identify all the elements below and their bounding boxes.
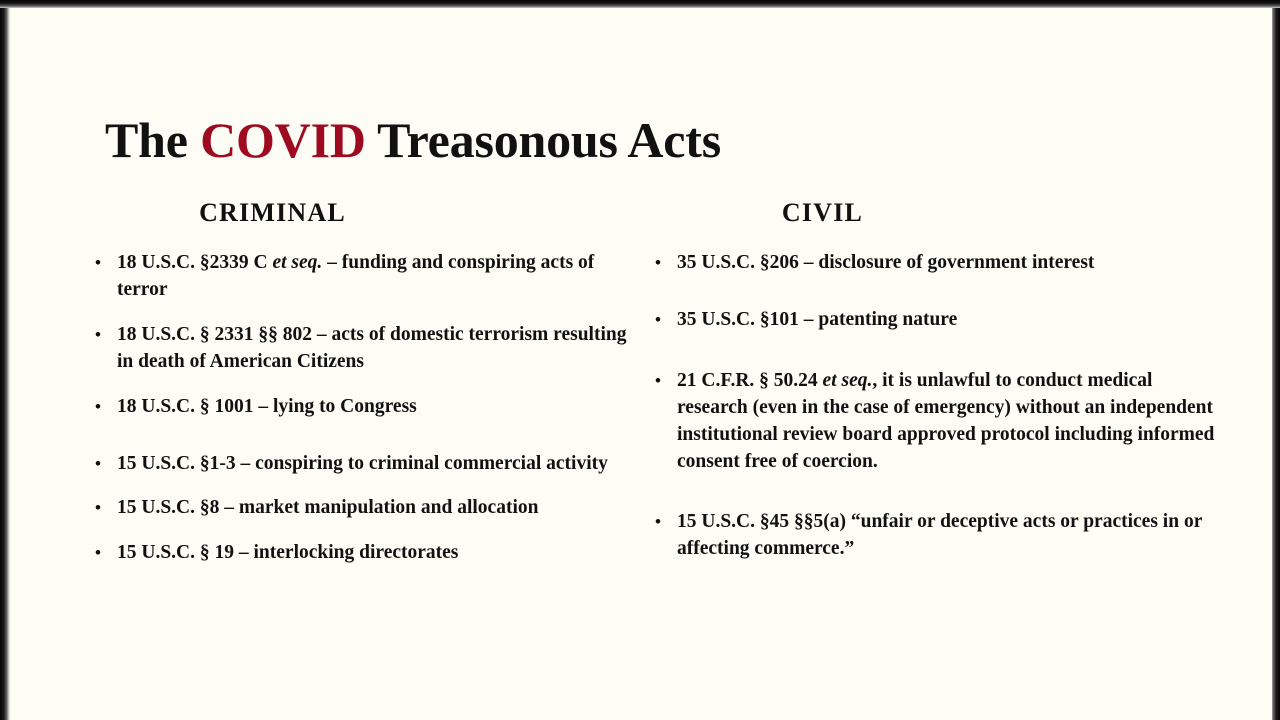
page-title: The COVID Treasonous Acts bbox=[105, 114, 721, 167]
bullet-dot-icon: • bbox=[655, 308, 677, 331]
bullet-list-civil: •35 U.S.C. §206 – disclosure of governme… bbox=[655, 250, 1215, 563]
bullet-dot-icon: • bbox=[655, 510, 677, 533]
list-item: •35 U.S.C. §101 – patenting nature bbox=[655, 307, 1215, 334]
bullet-dot-icon: • bbox=[95, 323, 117, 346]
column-header-civil: CIVIL bbox=[655, 198, 1215, 228]
list-item: •15 U.S.C. §8 – market manipulation and … bbox=[95, 495, 640, 522]
list-item-lead: 15 U.S.C. §1-3 – conspiring to criminal … bbox=[117, 453, 608, 474]
list-item-lead: 18 U.S.C. § 1001 – lying to Congress bbox=[117, 396, 417, 417]
list-item: •15 U.S.C. §45 §§5(a) “unfair or decepti… bbox=[655, 509, 1215, 563]
title-prefix: The bbox=[105, 112, 200, 168]
bullet-dot-icon: • bbox=[95, 541, 117, 564]
list-item-lead: 35 U.S.C. §206 – disclosure of governmen… bbox=[677, 252, 1094, 273]
list-item-lead: 15 U.S.C. § 19 – interlocking directorat… bbox=[117, 542, 458, 563]
list-item: •18 U.S.C. §2339 C et seq. – funding and… bbox=[95, 250, 640, 304]
list-item-italic: et seq. bbox=[823, 370, 873, 391]
video-player-frame: The COVID Treasonous Acts CRIMINAL •18 U… bbox=[0, 0, 1280, 720]
bullet-list-criminal: •18 U.S.C. §2339 C et seq. – funding and… bbox=[95, 250, 640, 567]
bullet-dot-icon: • bbox=[95, 452, 117, 475]
list-item: •18 U.S.C. § 1001 – lying to Congress bbox=[95, 394, 640, 421]
column-criminal: CRIMINAL •18 U.S.C. §2339 C et seq. – fu… bbox=[95, 198, 640, 585]
list-item-italic: et seq. bbox=[272, 252, 322, 273]
column-header-criminal: CRIMINAL bbox=[95, 198, 640, 228]
list-item-lead: 15 U.S.C. §45 §§5(a) “unfair or deceptiv… bbox=[677, 511, 1202, 559]
list-item: •35 U.S.C. §206 – disclosure of governme… bbox=[655, 250, 1215, 277]
bullet-dot-icon: • bbox=[655, 251, 677, 274]
presentation-slide: The COVID Treasonous Acts CRIMINAL •18 U… bbox=[10, 8, 1272, 720]
list-item-lead: 18 U.S.C. § 2331 §§ 802 – acts of domest… bbox=[117, 324, 626, 372]
list-item-lead: 21 C.F.R. § 50.24 bbox=[677, 370, 823, 391]
bullet-dot-icon: • bbox=[95, 496, 117, 519]
list-item: •18 U.S.C. § 2331 §§ 802 – acts of domes… bbox=[95, 322, 640, 376]
list-item: •15 U.S.C. §1-3 – conspiring to criminal… bbox=[95, 451, 640, 478]
list-item: •15 U.S.C. § 19 – interlocking directora… bbox=[95, 540, 640, 567]
title-suffix: Treasonous Acts bbox=[366, 112, 721, 168]
bullet-dot-icon: • bbox=[95, 395, 117, 418]
list-item-lead: 15 U.S.C. §8 – market manipulation and a… bbox=[117, 497, 538, 518]
bullet-dot-icon: • bbox=[95, 251, 117, 274]
list-item-lead: 35 U.S.C. §101 – patenting nature bbox=[677, 309, 957, 330]
bullet-dot-icon: • bbox=[655, 369, 677, 392]
title-keyword-covid: COVID bbox=[200, 112, 366, 168]
list-item: •21 C.F.R. § 50.24 et seq., it is unlawf… bbox=[655, 368, 1215, 476]
column-civil: CIVIL •35 U.S.C. §206 – disclosure of go… bbox=[655, 198, 1215, 581]
letterbox-top-border bbox=[0, 0, 1280, 8]
list-item-lead: 18 U.S.C. §2339 C bbox=[117, 252, 272, 273]
